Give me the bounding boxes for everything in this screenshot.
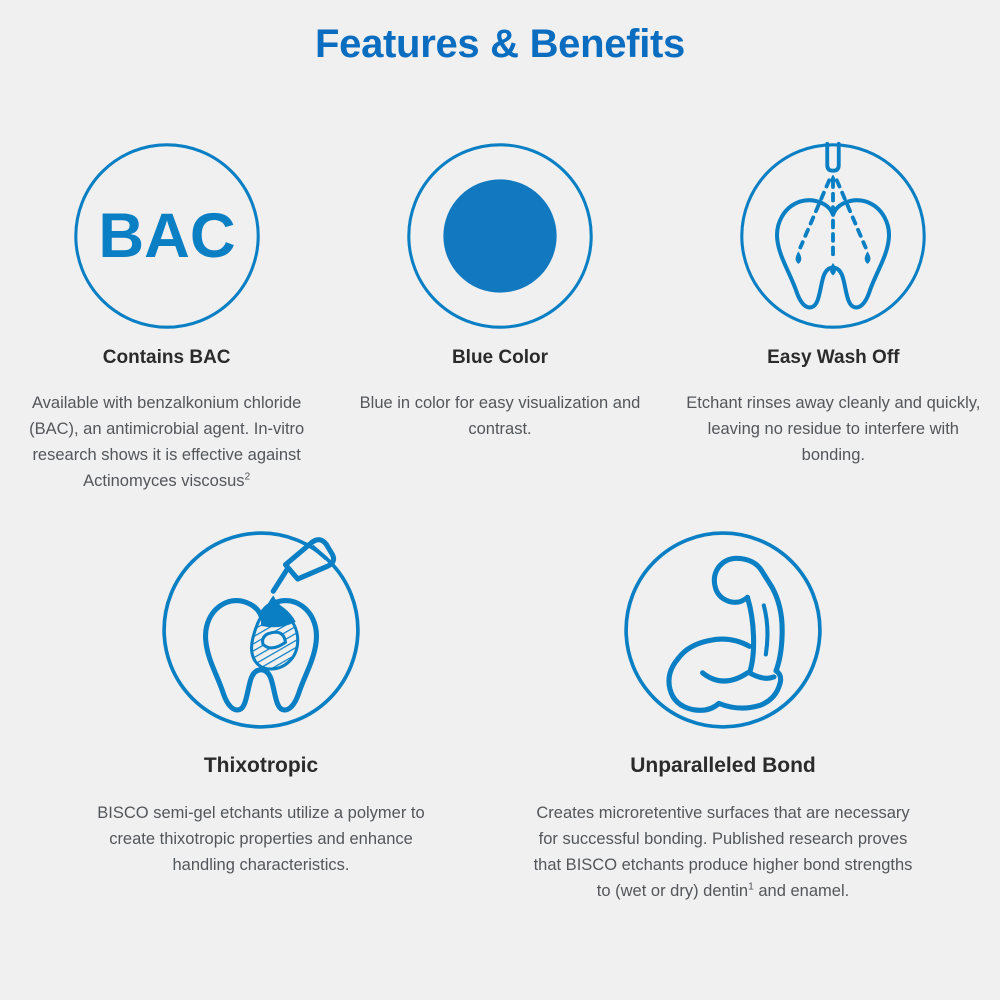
feature-card-easy-wash-off: Easy Wash Off Etchant rinses away cleanl… (667, 140, 1000, 494)
feature-body-text: Creates microretentive surfaces that are… (534, 804, 913, 900)
feature-heading: Contains BAC (103, 346, 231, 370)
feature-body-superscript: 2 (245, 472, 251, 483)
features-benefits-page: Features & Benefits BAC Contains BAC Ava… (0, 0, 1000, 1000)
tooth-applicator-gel-icon (159, 528, 363, 732)
features-row-bottom: Thixotropic BISCO semi-gel etchants util… (0, 528, 1000, 904)
feature-card-contains-bac: BAC Contains BAC Available with benzalko… (0, 140, 333, 494)
features-row-top: BAC Contains BAC Available with benzalko… (0, 140, 1000, 494)
flexing-bicep-muscle-icon (621, 528, 825, 732)
page-title: Features & Benefits (0, 18, 1000, 70)
feature-body-text: Blue in color for easy visualization and… (360, 394, 641, 438)
feature-heading: Thixotropic (204, 754, 318, 778)
feature-card-thixotropic: Thixotropic BISCO semi-gel etchants util… (30, 528, 492, 904)
feature-heading: Blue Color (452, 346, 548, 370)
feature-body-text-suffix: and enamel. (754, 882, 849, 900)
feature-body: BISCO semi-gel etchants utilize a polyme… (91, 800, 431, 878)
feature-body-text: BISCO semi-gel etchants utilize a polyme… (97, 804, 424, 874)
tooth-water-spray-icon (737, 140, 929, 332)
feature-heading: Unparalleled Bond (630, 754, 816, 778)
feature-body-text: Etchant rinses away cleanly and quickly,… (686, 394, 980, 464)
bac-icon-label: BAC (98, 201, 235, 271)
feature-card-unparalleled-bond: Unparalleled Bond Creates microretentive… (492, 528, 954, 904)
feature-body: Etchant rinses away cleanly and quickly,… (683, 390, 983, 468)
feature-card-blue-color: Blue Color Blue in color for easy visual… (333, 140, 666, 494)
feature-body: Available with benzalkonium chloride (BA… (17, 390, 317, 494)
feature-heading: Easy Wash Off (767, 346, 899, 370)
filled-blue-dot-circle-icon (404, 140, 596, 332)
feature-body-text: Available with benzalkonium chloride (BA… (29, 394, 304, 490)
feature-body: Blue in color for easy visualization and… (345, 390, 655, 442)
bac-text-circle-icon: BAC (71, 140, 263, 332)
feature-body: Creates microretentive surfaces that are… (533, 800, 913, 904)
